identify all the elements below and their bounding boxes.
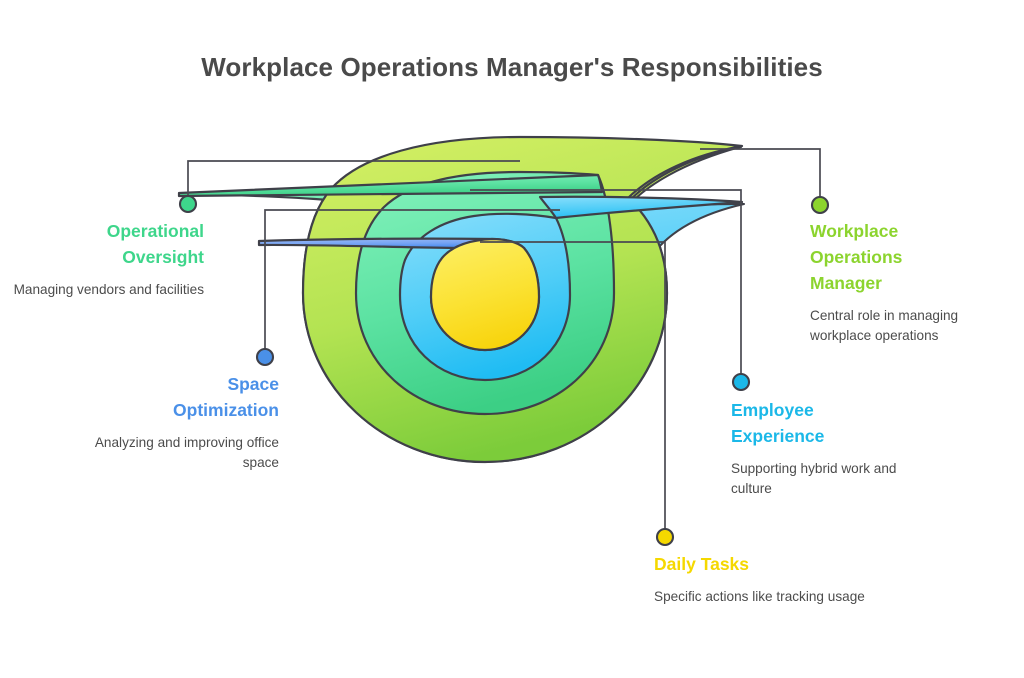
dot-workplace-operations-manager[interactable] — [812, 197, 828, 213]
node-description-operational-oversight: Managing vendors and facilities — [0, 280, 204, 300]
diagram-root: Workplace Operations Manager's Responsib… — [0, 0, 1024, 678]
node-description-daily-tasks: Specific actions like tracking usage — [654, 587, 874, 607]
dot-daily-tasks[interactable] — [657, 529, 673, 545]
node-label-employee-experience[interactable]: Employee Experience Supporting hybrid wo… — [731, 398, 941, 500]
node-label-workplace-operations-manager[interactable]: Workplace Operations Manager Central rol… — [810, 219, 1010, 346]
node-label-space-optimization[interactable]: Space Optimization Analyzing and improvi… — [70, 372, 279, 474]
dot-operational-oversight[interactable] — [180, 196, 196, 212]
node-title-employee-experience: Employee Experience — [731, 398, 941, 450]
core-circle — [431, 239, 539, 350]
node-title-space-optimization: Space Optimization — [70, 372, 279, 424]
node-description-employee-experience: Supporting hybrid work and culture — [731, 459, 941, 500]
node-description-space-optimization: Analyzing and improving office space — [70, 433, 279, 474]
node-description-workplace-operations-manager: Central role in managing workplace opera… — [810, 306, 1010, 347]
node-label-operational-oversight[interactable]: Operational Oversight Managing vendors a… — [0, 219, 204, 300]
node-title-workplace-operations-manager: Workplace Operations Manager — [810, 219, 1010, 297]
dot-space-optimization[interactable] — [257, 349, 273, 365]
connector-workplace-operations-manager — [700, 149, 820, 201]
node-label-daily-tasks[interactable]: Daily Tasks Specific actions like tracki… — [654, 552, 874, 607]
dot-employee-experience[interactable] — [733, 374, 749, 390]
node-title-daily-tasks: Daily Tasks — [654, 552, 874, 578]
node-title-operational-oversight: Operational Oversight — [0, 219, 204, 271]
